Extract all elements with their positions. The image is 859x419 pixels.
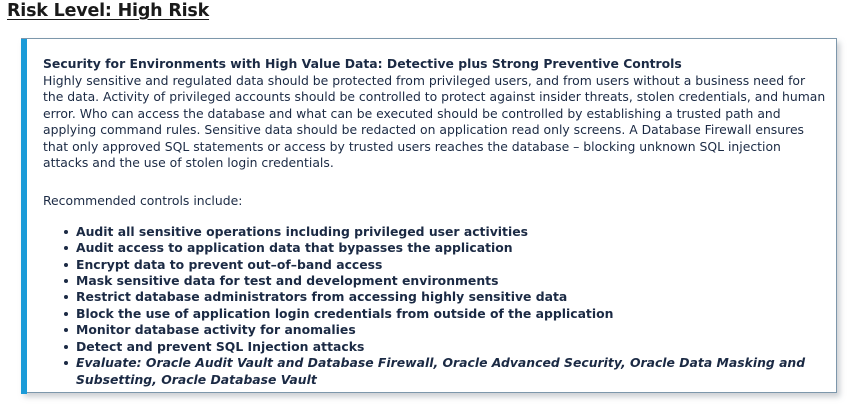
list-item-label: Restrict database administrators from ac… xyxy=(76,289,567,304)
callout-heading: Security for Environments with High Valu… xyxy=(43,56,826,72)
list-item: Monitor database activity for anomalies xyxy=(43,322,826,338)
risk-callout-panel: Security for Environments with High Valu… xyxy=(21,38,837,393)
list-item-label: Mask sensitive data for test and develop… xyxy=(76,273,498,288)
panel-content: Security for Environments with High Valu… xyxy=(27,39,836,392)
panel-frame: Security for Environments with High Valu… xyxy=(21,38,837,393)
bullet-dot-icon xyxy=(64,230,68,234)
bullet-dot-icon xyxy=(64,361,68,365)
recommended-controls-list: Audit all sensitive operations including… xyxy=(43,224,826,388)
bullet-dot-icon xyxy=(64,246,68,250)
page-title: Risk Level: High Risk xyxy=(7,1,209,21)
list-item: Detect and prevent SQL Injection attacks xyxy=(43,339,826,355)
bullet-dot-icon xyxy=(64,295,68,299)
list-item: Evaluate: Oracle Audit Vault and Databas… xyxy=(43,355,826,388)
list-item-label: Evaluate: Oracle Audit Vault and Databas… xyxy=(76,355,805,386)
bullet-dot-icon xyxy=(64,312,68,316)
list-item: Block the use of application login crede… xyxy=(43,306,826,322)
bullet-dot-icon xyxy=(64,263,68,267)
recommended-controls-lead-in: Recommended controls include: xyxy=(43,193,826,209)
list-item-label: Audit access to application data that by… xyxy=(76,240,513,255)
callout-paragraph: Highly sensitive and regulated data shou… xyxy=(43,73,826,171)
bullet-dot-icon xyxy=(64,279,68,283)
list-item: Mask sensitive data for test and develop… xyxy=(43,273,826,289)
bullet-dot-icon xyxy=(64,328,68,332)
bullet-dot-icon xyxy=(64,345,68,349)
list-item: Audit all sensitive operations including… xyxy=(43,224,826,240)
list-item-label: Block the use of application login crede… xyxy=(76,306,613,321)
list-item-label: Audit all sensitive operations including… xyxy=(76,224,528,239)
list-item-label: Encrypt data to prevent out–of–band acce… xyxy=(76,257,382,272)
list-item-label: Detect and prevent SQL Injection attacks xyxy=(76,339,364,354)
page-root: Risk Level: High Risk Security for Envir… xyxy=(0,0,859,419)
list-item: Restrict database administrators from ac… xyxy=(43,289,826,305)
list-item: Encrypt data to prevent out–of–band acce… xyxy=(43,257,826,273)
list-item-label: Monitor database activity for anomalies xyxy=(76,322,356,337)
list-item: Audit access to application data that by… xyxy=(43,240,826,256)
